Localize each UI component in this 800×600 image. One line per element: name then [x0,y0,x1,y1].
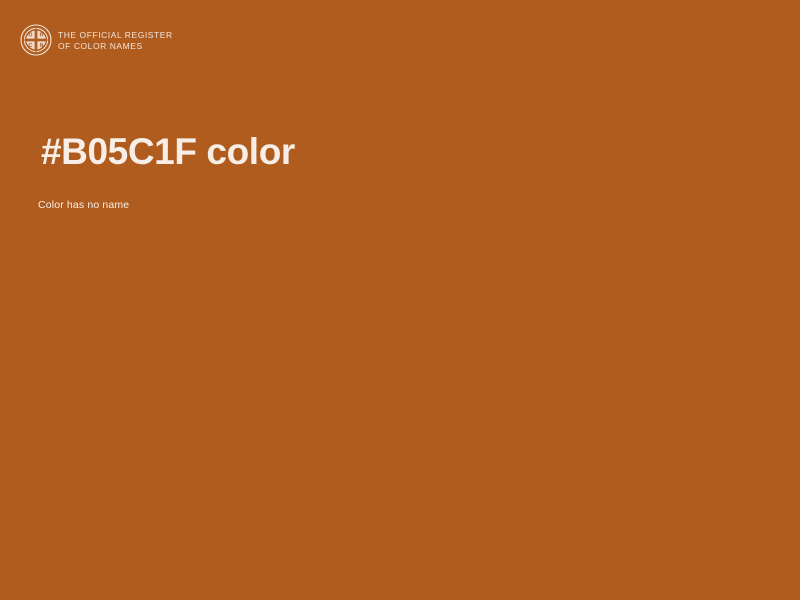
svg-text:R: R [40,33,44,39]
color-swatch-background [0,0,800,600]
register-seal-icon: O R C N [20,24,52,56]
svg-text:O: O [28,33,32,39]
svg-text:N: N [40,43,44,49]
svg-text:C: C [29,43,33,49]
brand-line-1: THE OFFICIAL REGISTER [58,30,173,41]
color-detail-page: O R C N THE OFFICIAL REGISTER OF COLOR N… [0,0,800,600]
page-title: #B05C1F color [41,129,295,174]
color-name-status: Color has no name [38,198,129,212]
brand-wordmark: THE OFFICIAL REGISTER OF COLOR NAMES [58,29,173,52]
brand-lockup[interactable]: O R C N THE OFFICIAL REGISTER OF COLOR N… [20,24,173,56]
brand-line-2: OF COLOR NAMES [58,41,173,52]
